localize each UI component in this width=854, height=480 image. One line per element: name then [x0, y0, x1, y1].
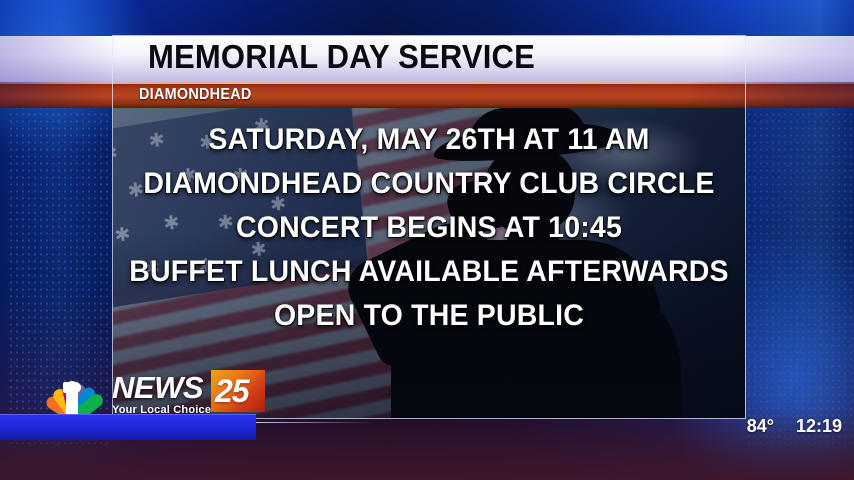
status-bar — [0, 414, 256, 440]
location-band-shading — [0, 82, 854, 108]
station-wordmark: NEWS Your Local Choice — [112, 372, 211, 416]
message-line: BUFFET LUNCH AVAILABLE AFTERWARDS — [129, 250, 729, 294]
station-name: NEWS — [112, 372, 211, 403]
status-bar-tail-line — [256, 422, 376, 423]
headline-text: MEMORIAL DAY SERVICE — [148, 38, 535, 76]
location-text: DIAMONDHEAD — [139, 86, 252, 104]
peacock-beak — [63, 382, 81, 393]
message-line: CONCERT BEGINS AT 10:45 — [129, 206, 729, 250]
message-line: SATURDAY, MAY 26TH AT 11 AM — [129, 118, 729, 162]
message-block: SATURDAY, MAY 26TH AT 11 AM DIAMONDHEAD … — [113, 118, 745, 338]
channel-number: 25 — [215, 372, 249, 410]
status-bar-readout: 84° 12:19 — [747, 416, 842, 437]
broadcast-screen: ✱ ✱ ✱ ✱ ✱ ✱ ✱ ✱ ✱ ✱ ✱ ✱ ✱ ✱ — [0, 0, 854, 480]
clock-readout: 12:19 — [796, 416, 842, 436]
message-line: OPEN TO THE PUBLIC — [129, 294, 729, 338]
temperature-readout: 84° — [747, 416, 774, 436]
channel-number-badge: 25 — [211, 370, 265, 412]
message-line: DIAMONDHEAD COUNTRY CLUB CIRCLE — [129, 162, 729, 206]
location-band — [0, 82, 854, 108]
